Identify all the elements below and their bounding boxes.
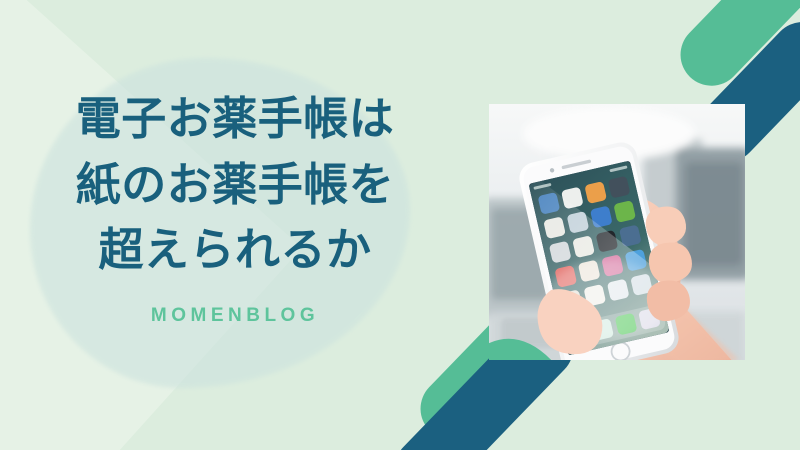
hero-photo (489, 104, 745, 360)
brand-name: MOMENBLOG (0, 305, 470, 327)
title-line-2: 紙のお薬手帳を (0, 152, 470, 218)
page-title: 電子お薬手帳は 紙のお薬手帳を 超えられるか (0, 86, 470, 283)
title-line-1: 電子お薬手帳は (0, 86, 470, 152)
title-line-3: 超えられるか (0, 217, 470, 283)
eyecatch-banner: 電子お薬手帳は 紙のお薬手帳を 超えられるか MOMENBLOG (0, 0, 800, 450)
